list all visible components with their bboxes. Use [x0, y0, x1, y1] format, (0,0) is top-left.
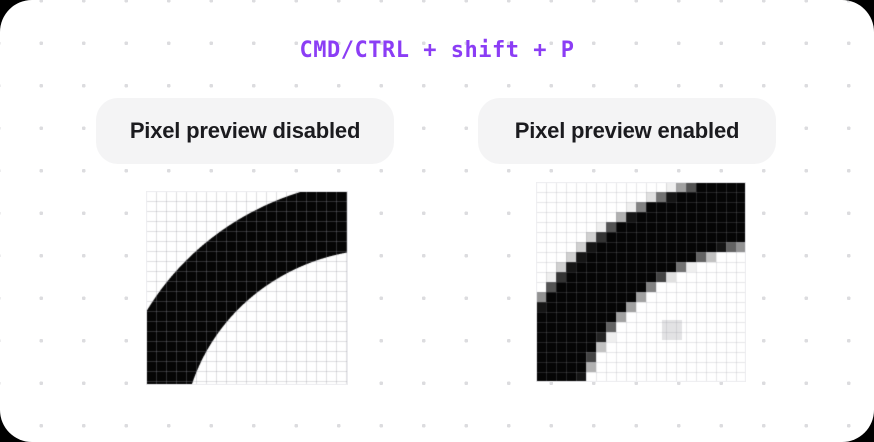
- preview-card: CMD/CTRL + shift + P Pixel preview disab…: [0, 0, 874, 442]
- page-title: CMD/CTRL + shift + P: [0, 38, 874, 63]
- canvas-pixelated-curve: [536, 182, 746, 382]
- label-pill-enabled: Pixel preview enabled: [478, 98, 776, 164]
- label-pill-enabled-text: Pixel preview enabled: [515, 118, 739, 144]
- canvas-smooth-curve: [146, 191, 348, 385]
- label-pill-disabled: Pixel preview disabled: [96, 98, 394, 164]
- label-pill-disabled-text: Pixel preview disabled: [130, 118, 360, 144]
- pixelated-curve-render: [536, 182, 746, 382]
- smooth-curve-render: [146, 191, 348, 385]
